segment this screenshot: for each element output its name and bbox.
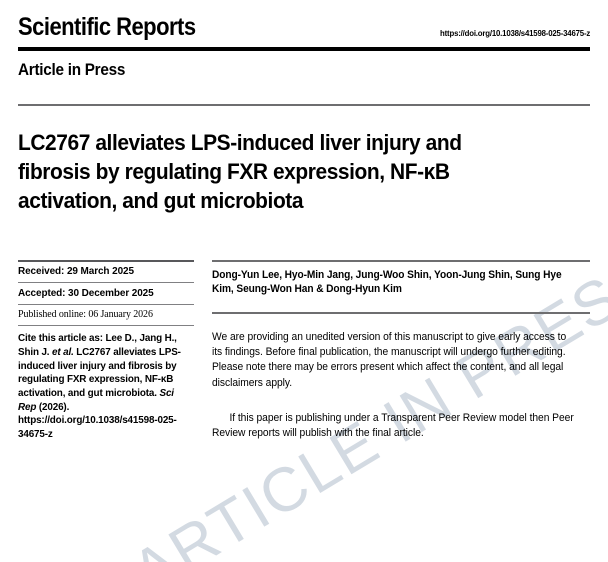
accepted-date: Accepted: 30 December 2025 [18,283,185,304]
masthead: Scientific Reports https://doi.org/10.10… [18,14,590,40]
metadata-column-right: Dong-Yun Lee, Hyo-Min Jang, Jung-Woo Shi… [212,260,590,452]
doi-link[interactable]: https://doi.org/10.1038/s41598-025-34675… [440,28,590,38]
citation-block: Cite this article as: Lee D., Jang H., S… [18,326,187,442]
published-online-date: Published online: 06 January 2026 [18,305,185,326]
metadata-column-left: Received: 29 March 2025 Accepted: 30 Dec… [18,260,194,442]
author-list: Dong-Yun Lee, Hyo-Min Jang, Jung-Woo Shi… [212,262,575,297]
article-kind-label: Article in Press [18,60,125,80]
journal-title: Scientific Reports [18,14,196,40]
notice-paragraph-1: We are providing an unedited version of … [212,330,579,390]
citation-etal: et al. [52,347,74,358]
title-divider [18,104,590,106]
masthead-rule [18,47,590,51]
received-date: Received: 29 March 2025 [18,262,185,283]
notice-paragraph-2: If this paper is publishing under a Tran… [212,401,579,441]
document-page: ARTICLE IN PRESS Scientific Reports http… [0,0,608,562]
citation-suffix: (2026). https://doi.org/10.1038/s41598-0… [18,402,177,440]
page-title: LC2767 alleviates LPS-induced liver inju… [18,129,483,215]
unedited-version-notice: We are providing an unedited version of … [212,314,590,441]
